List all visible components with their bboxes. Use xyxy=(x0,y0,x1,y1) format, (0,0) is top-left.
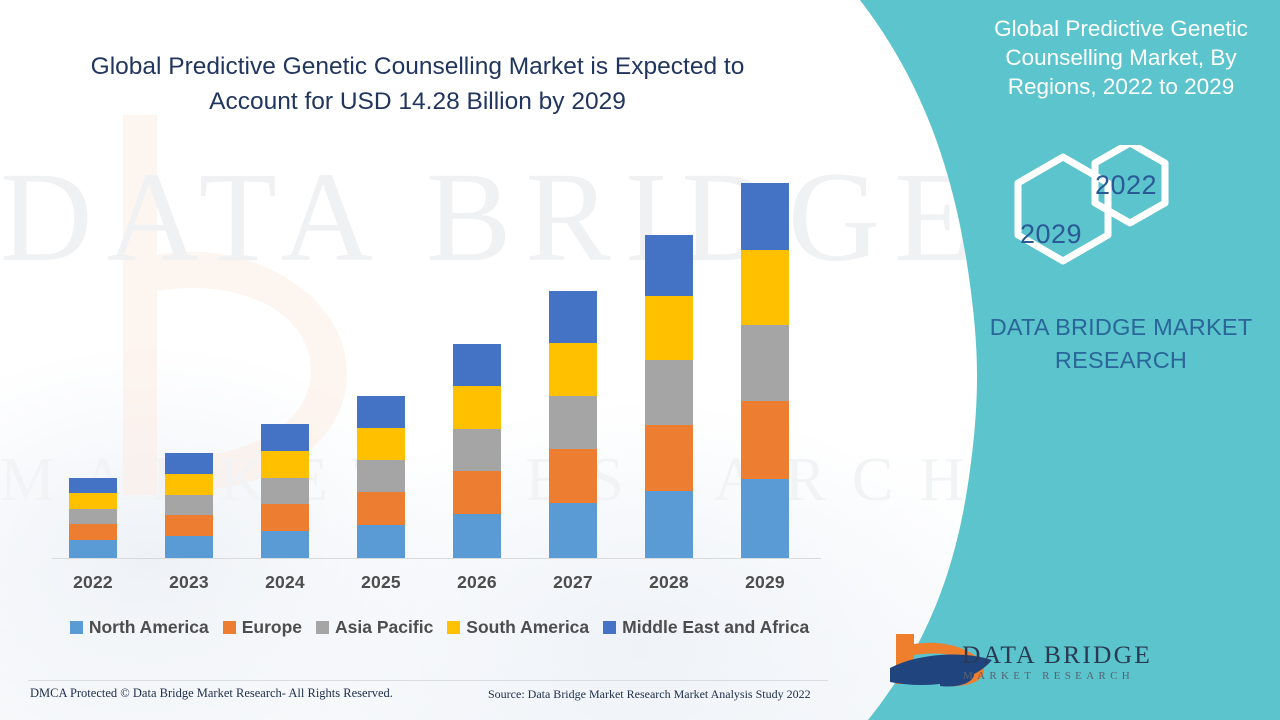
bar-segment-north-america xyxy=(261,531,309,558)
bar-segment-north-america xyxy=(645,491,693,558)
bar-2023[interactable] xyxy=(165,453,213,558)
legend-item-middle-east-and-africa[interactable]: Middle East and Africa xyxy=(603,617,809,638)
bar-segment-south-america xyxy=(357,428,405,460)
footer-copyright: DMCA Protected © Data Bridge Market Rese… xyxy=(30,686,393,701)
legend-label: Middle East and Africa xyxy=(622,617,809,638)
hexagon-start-year: 2022 xyxy=(1095,170,1157,201)
legend-swatch-icon xyxy=(70,621,83,634)
bar-2025[interactable] xyxy=(357,396,405,558)
legend-item-europe[interactable]: Europe xyxy=(223,617,302,638)
bar-segment-europe xyxy=(261,504,309,531)
hexagon-end-year: 2029 xyxy=(1020,219,1082,250)
x-label-2029: 2029 xyxy=(725,572,805,593)
bar-2029[interactable] xyxy=(741,183,789,558)
legend-item-south-america[interactable]: South America xyxy=(447,617,589,638)
bar-segment-north-america xyxy=(549,503,597,558)
legend-swatch-icon xyxy=(316,621,329,634)
chart-legend: North AmericaEuropeAsia PacificSouth Ame… xyxy=(52,617,827,638)
panel-title: Global Predictive Genetic Counselling Ma… xyxy=(965,14,1277,101)
legend-swatch-icon xyxy=(447,621,460,634)
bar-segment-middle-east-and-africa xyxy=(357,396,405,428)
bar-segment-europe xyxy=(741,401,789,479)
bar-segment-north-america xyxy=(453,514,501,558)
x-label-2022: 2022 xyxy=(53,572,133,593)
stacked-bar-chart xyxy=(52,160,822,560)
bar-segment-south-america xyxy=(165,474,213,495)
bar-segment-europe xyxy=(165,515,213,536)
bar-2024[interactable] xyxy=(261,424,309,558)
bar-2027[interactable] xyxy=(549,291,597,558)
bar-segment-asia-pacific xyxy=(261,478,309,504)
legend-label: Europe xyxy=(242,617,302,638)
x-label-2027: 2027 xyxy=(533,572,613,593)
logo-primary-text: DATA BRIDGE xyxy=(962,640,1152,670)
footer-divider xyxy=(28,680,828,681)
bar-segment-north-america xyxy=(741,479,789,558)
x-label-2023: 2023 xyxy=(149,572,229,593)
bar-segment-south-america xyxy=(645,296,693,360)
bar-segment-north-america xyxy=(165,536,213,558)
x-axis-labels: 20222023202420252026202720282029 xyxy=(52,572,822,596)
bar-segment-europe xyxy=(357,492,405,525)
legend-label: Asia Pacific xyxy=(335,617,433,638)
bar-segment-north-america xyxy=(357,525,405,558)
legend-label: South America xyxy=(466,617,589,638)
bar-segment-asia-pacific xyxy=(741,325,789,401)
x-label-2028: 2028 xyxy=(629,572,709,593)
legend-item-north-america[interactable]: North America xyxy=(70,617,209,638)
x-label-2025: 2025 xyxy=(341,572,421,593)
bar-segment-south-america xyxy=(261,451,309,478)
bar-segment-asia-pacific xyxy=(357,460,405,492)
footer-source: Source: Data Bridge Market Research Mark… xyxy=(488,687,811,702)
bar-segment-middle-east-and-africa xyxy=(453,344,501,386)
x-label-2024: 2024 xyxy=(245,572,325,593)
legend-swatch-icon xyxy=(603,621,616,634)
bar-segment-south-america xyxy=(453,386,501,429)
chart-plot-area xyxy=(52,160,822,560)
bar-segment-middle-east-and-africa xyxy=(741,183,789,250)
year-hexagons xyxy=(975,145,1205,300)
bar-segment-south-america xyxy=(741,250,789,325)
bar-segment-middle-east-and-africa xyxy=(549,291,597,343)
bar-segment-asia-pacific xyxy=(453,429,501,471)
bar-segment-asia-pacific xyxy=(549,396,597,449)
page-title: Global Predictive Genetic Counselling Ma… xyxy=(60,50,775,120)
bar-segment-south-america xyxy=(69,493,117,509)
bar-2022[interactable] xyxy=(69,478,117,558)
brand-name: DATA BRIDGE MARKET RESEARCH xyxy=(965,311,1277,377)
legend-swatch-icon xyxy=(223,621,236,634)
bar-segment-europe xyxy=(453,471,501,514)
bar-segment-asia-pacific xyxy=(645,360,693,425)
bar-segment-middle-east-and-africa xyxy=(645,235,693,296)
bar-segment-europe xyxy=(69,524,117,540)
bar-segment-middle-east-and-africa xyxy=(69,478,117,493)
bar-segment-europe xyxy=(645,425,693,491)
bar-segment-asia-pacific xyxy=(165,495,213,515)
bar-segment-middle-east-and-africa xyxy=(165,453,213,474)
bar-segment-south-america xyxy=(549,343,597,396)
infographic-canvas: DATA BRIDGE MARKET RESEARCH Global Predi… xyxy=(0,0,1280,720)
bar-2026[interactable] xyxy=(453,344,501,558)
bar-segment-middle-east-and-africa xyxy=(261,424,309,451)
bar-2028[interactable] xyxy=(645,235,693,558)
bar-segment-north-america xyxy=(69,540,117,558)
x-axis-line xyxy=(52,558,821,559)
bar-segment-europe xyxy=(549,449,597,503)
legend-item-asia-pacific[interactable]: Asia Pacific xyxy=(316,617,433,638)
x-label-2026: 2026 xyxy=(437,572,517,593)
legend-label: North America xyxy=(89,617,209,638)
bar-segment-asia-pacific xyxy=(69,509,117,524)
logo-secondary-text: MARKET RESEARCH xyxy=(963,670,1134,682)
